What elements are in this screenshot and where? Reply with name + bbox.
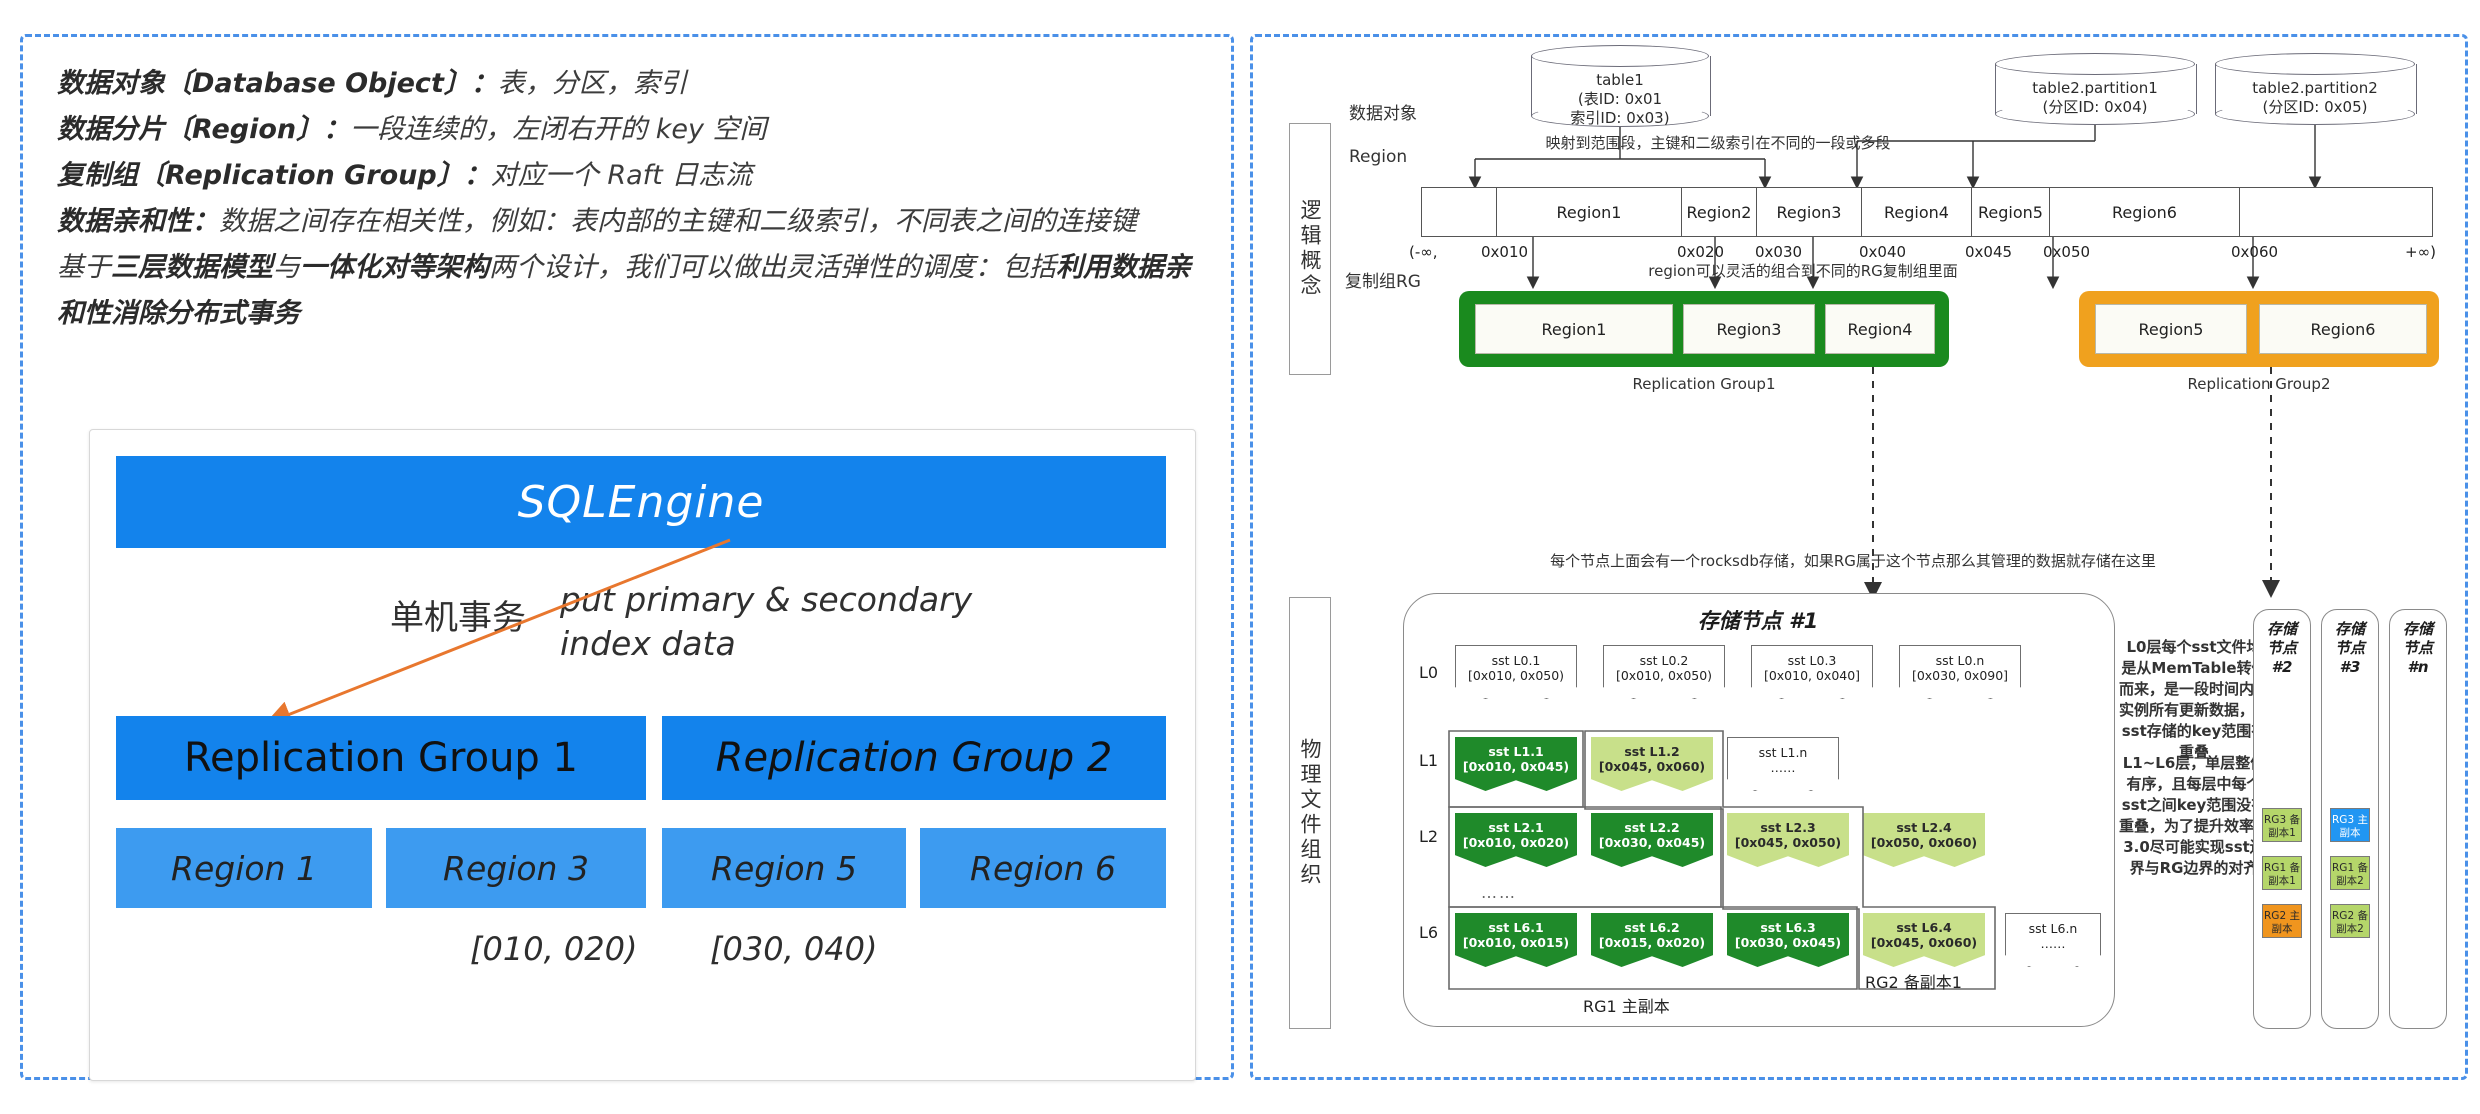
cylinder-table1-line3: 索引ID: 0x03) (1531, 109, 1709, 128)
sst-l1-1-range: [0x010, 0x045) (1455, 759, 1577, 774)
definition-line-4: 数据亲和性：数据之间存在相关性，例如：表内部的主键和二级索引，不同表之间的连接键 (57, 199, 1197, 245)
region-5-label: Region 5 (711, 849, 857, 888)
sst-l6-2-name: sst L6.2 (1591, 920, 1713, 935)
cylinder-p1-name: table2.partition1 (1995, 79, 2195, 98)
storage-node-n-title: 存储节点#n (2390, 620, 2446, 677)
definition-text-block: 数据对象〔Database Object〕：表，分区，索引 数据分片〔Regio… (57, 61, 1197, 337)
band-logical-label: 逻辑概念 (1295, 199, 1325, 299)
region-key-space-strip: Region1 Region2 Region3 Region4 Region5 … (1421, 187, 2433, 237)
cylinder-table1: table1 (表ID: 0x01 索引ID: 0x03) (1531, 45, 1709, 127)
level-ellipsis: …… (1481, 883, 1517, 902)
sql-engine-block: SQLEngine (116, 456, 1166, 548)
definition-line-1: 数据对象〔Database Object〕：表，分区，索引 (57, 61, 1197, 107)
conclusion-p3: 两个设计，我们可以做出灵活弹性的调度：包括 (489, 252, 1056, 283)
node3-chip-rg1-backup2[interactable]: RG1 备副本2 (2330, 856, 2370, 890)
region-6-label: Region 6 (970, 849, 1116, 888)
replication-group-1-container[interactable]: Region1 Region3 Region4 (1459, 291, 1949, 367)
conclusion-b2: 一体化对等架构 (300, 252, 489, 283)
level-label-l6: L6 (1419, 923, 1438, 942)
left-panel: 数据对象〔Database Object〕：表，分区，索引 数据分片〔Regio… (20, 34, 1234, 1080)
storage-node-note: 每个节点上面会有一个rocksdb存储，如果RG属于这个节点那么其管理的数据就存… (1403, 551, 2303, 572)
sst-l0-2-range: [0x010, 0x050) (1604, 668, 1724, 683)
conclusion-b1: 三层数据模型 (111, 252, 273, 283)
sst-l0-2-name: sst L0.2 (1604, 653, 1724, 668)
cylinder-table1-name: table1 (1531, 71, 1709, 90)
definition-line-2: 数据分片〔Region〕：一段连续的，左闭右开的 key 空间 (57, 107, 1197, 153)
key-range-a-label: [010, 020) (470, 930, 637, 968)
node2-chip-rg2-primary[interactable]: RG2 主副本 (2262, 904, 2302, 938)
put-index-note-line2: index data (560, 622, 972, 666)
region-1-box[interactable]: Region 1 (116, 828, 372, 908)
rg-composition-note: region可以灵活的组合到不同的RG复制组里面 (1483, 261, 2123, 282)
region-cell-region4[interactable]: Region4 (1862, 188, 1972, 236)
storage-node-n-column[interactable]: 存储节点#n (2389, 609, 2447, 1029)
definition-3-desc: 对应一个 Raft 日志流 (491, 160, 753, 191)
sst-l6-2-range: [0x015, 0x020) (1591, 935, 1713, 950)
sst-l1-1-name: sst L1.1 (1455, 744, 1577, 759)
sst-l6-4-name: sst L6.4 (1863, 920, 1985, 935)
storage-node-3-title: 存储节点#3 (2322, 620, 2378, 677)
rg2-backup-replica-label: RG2 备副本1 (1865, 969, 1962, 993)
region-cell-7[interactable] (2240, 188, 2432, 236)
replication-group-2-label: Replication Group 2 (716, 735, 1113, 781)
region-3-box[interactable]: Region 3 (386, 828, 646, 908)
sst-l0-3-name: sst L0.3 (1752, 653, 1872, 668)
key-tick-0x050: 0x050 (2043, 243, 2090, 261)
sst-l6-n-range: …… (2006, 936, 2100, 951)
l1-l6-side-note: L1~L6层，单层整体有序，且每层中每个sst之间key范围没有重叠，为了提升效… (2119, 753, 2269, 879)
sst-l2-1-name: sst L2.1 (1455, 820, 1577, 835)
sst-l1-n-name: sst L1.n (1728, 745, 1838, 760)
sst-l2-3-name: sst L2.3 (1727, 820, 1849, 835)
replication-group-2-box[interactable]: Replication Group 2 (662, 716, 1166, 800)
region-3-label: Region 3 (443, 849, 589, 888)
sst-l6-n-name: sst L6.n (2006, 921, 2100, 936)
region-cell-region3[interactable]: Region3 (1757, 188, 1862, 236)
key-tick-0x030: 0x030 (1755, 243, 1802, 261)
definition-3-term: 复制组〔Replication Group〕： (57, 160, 491, 191)
architecture-card: SQLEngine 单机事务 put primary & secondary i… (89, 429, 1196, 1081)
region-cell-region5[interactable]: Region5 (1972, 188, 2050, 236)
sst-l2-3-range: [0x045, 0x050) (1727, 835, 1849, 850)
level-label-l2: L2 (1419, 827, 1438, 846)
sst-l2-1-range: [0x010, 0x020) (1455, 835, 1577, 850)
replication-group-2-caption: Replication Group2 (2079, 375, 2439, 393)
definition-4-desc: 数据之间存在相关性，例如：表内部的主键和二级索引，不同表之间的连接键 (219, 206, 1137, 237)
cylinder-p2-name: table2.partition2 (2215, 79, 2415, 98)
sst-l1-n-range: …… (1728, 760, 1838, 775)
cylinder-p2-top (2215, 53, 2415, 75)
sst-l6-4-range: [0x045, 0x060) (1863, 935, 1985, 950)
put-index-note: put primary & secondary index data (560, 578, 972, 666)
cylinder-p1-top (1995, 53, 2195, 75)
level-label-l0: L0 (1419, 663, 1438, 682)
sst-l0-1-name: sst L0.1 (1456, 653, 1576, 668)
key-tick-0x010: 0x010 (1481, 243, 1528, 261)
definition-line-3: 复制组〔Replication Group〕：对应一个 Raft 日志流 (57, 153, 1197, 199)
cylinder-table2-partition1: table2.partition1 (分区ID: 0x04) (1995, 53, 2195, 125)
sst-l0-n-range: [0x030, 0x090] (1900, 668, 2020, 683)
region-1-label: Region 1 (171, 849, 317, 888)
sst-l2-2-range: [0x030, 0x045) (1591, 835, 1713, 850)
band-logical-concept: 逻辑概念 (1289, 123, 1331, 375)
cylinder-p1-text: table2.partition1 (分区ID: 0x04) (1995, 79, 2195, 117)
right-panel: 逻辑概念 物理文件组织 数据对象 Region 复制组RG table1 (表I… (1250, 34, 2468, 1080)
key-tick-neg-inf: (-∞, (1409, 243, 1438, 261)
conclusion-p1: 基于 (57, 252, 111, 283)
rg1-slot-region1[interactable]: Region1 (1475, 304, 1673, 354)
replication-group-1-label: Replication Group 1 (184, 735, 578, 781)
cylinder-table1-text: table1 (表ID: 0x01 索引ID: 0x03) (1531, 71, 1709, 128)
sql-engine-label: SQLEngine (518, 477, 765, 528)
cylinder-p1-line2: (分区ID: 0x04) (1995, 98, 2195, 117)
replication-group-2-container[interactable]: Region5 Region6 (2079, 291, 2439, 367)
region-cell-region2[interactable]: Region2 (1682, 188, 1757, 236)
put-index-note-line1: put primary & secondary (560, 578, 972, 622)
l0-side-note: L0层每个sst文件均是从MemTable转储而来，是一段时间内该实例所有更新数… (2119, 637, 2269, 763)
conclusion-p2: 与 (273, 252, 300, 283)
key-tick-0x045: 0x045 (1965, 243, 2012, 261)
band-physical-organization: 物理文件组织 (1289, 597, 1331, 1029)
node2-chip-rg1-backup1[interactable]: RG1 备副本1 (2262, 856, 2302, 890)
local-transaction-label: 单机事务 (390, 590, 526, 639)
sst-l2-2-name: sst L2.2 (1591, 820, 1713, 835)
key-tick-0x060: 0x060 (2231, 243, 2278, 261)
row-label-data-object: 数据对象 (1349, 99, 1417, 124)
definition-2-desc: 一段连续的，左闭右开的 key 空间 (350, 114, 766, 145)
cylinder-table1-line2: (表ID: 0x01 (1531, 90, 1709, 109)
slide-root: 数据对象〔Database Object〕：表，分区，索引 数据分片〔Regio… (0, 0, 2480, 1114)
sst-l6-1-name: sst L6.1 (1455, 920, 1577, 935)
cylinder-p2-line2: (分区ID: 0x05) (2215, 98, 2415, 117)
replication-group-1-caption: Replication Group1 (1459, 375, 1949, 393)
replication-group-1-box[interactable]: Replication Group 1 (116, 716, 646, 800)
sst-l0-n-name: sst L0.n (1900, 653, 2020, 668)
sst-l6-1-range: [0x010, 0x015) (1455, 935, 1577, 950)
cylinder-p2-text: table2.partition2 (分区ID: 0x05) (2215, 79, 2415, 117)
storage-node-3-column[interactable]: 存储节点#3 RG3 主副本 RG1 备副本2 RG2 备副本2 (2321, 609, 2379, 1029)
rg2-slot-region6[interactable]: Region6 (2259, 304, 2427, 354)
mapping-note: 映射到范围段，主键和二级索引在不同的一段或多段 (1483, 133, 1953, 154)
rg2-slot-region5[interactable]: Region5 (2095, 304, 2247, 354)
region-5-box[interactable]: Region 5 (662, 828, 906, 908)
row-label-replication-group: 复制组RG (1345, 267, 1421, 292)
node3-chip-rg3-primary[interactable]: RG3 主副本 (2330, 808, 2370, 842)
band-physical-label: 物理文件组织 (1295, 738, 1325, 888)
key-tick-pos-inf: +∞) (2405, 243, 2436, 261)
sst-l6-3-range: [0x030, 0x045) (1727, 935, 1849, 950)
key-range-b-label: [030, 040) (710, 930, 877, 968)
rg1-primary-replica-label: RG1 主副本 (1583, 993, 1670, 1017)
row-label-region: Region (1349, 147, 1407, 167)
storage-node-1-title: 存储节点 #1 (1403, 605, 2113, 635)
rg1-slot-region4[interactable]: Region4 (1825, 304, 1935, 354)
sst-l6-3-name: sst L6.3 (1727, 920, 1849, 935)
definition-4-term: 数据亲和性： (57, 206, 219, 237)
key-tick-0x020: 0x020 (1677, 243, 1724, 261)
region-cell-0[interactable] (1422, 188, 1497, 236)
region-cell-region6[interactable]: Region6 (2050, 188, 2240, 236)
region-6-box[interactable]: Region 6 (920, 828, 1166, 908)
rg1-slot-region3[interactable]: Region3 (1683, 304, 1815, 354)
sst-l0-3-range: [0x010, 0x040] (1752, 668, 1872, 683)
node3-chip-rg2-backup2[interactable]: RG2 备副本2 (2330, 904, 2370, 938)
cylinder-table2-partition2: table2.partition2 (分区ID: 0x05) (2215, 53, 2415, 125)
conclusion-line: 基于三层数据模型与一体化对等架构两个设计，我们可以做出灵活弹性的调度：包括利用数… (57, 245, 1197, 337)
node2-chip-rg3-backup1[interactable]: RG3 备副本1 (2262, 808, 2302, 842)
definition-1-term: 数据对象〔Database Object〕： (57, 68, 498, 99)
key-tick-0x040: 0x040 (1859, 243, 1906, 261)
storage-node-2-column[interactable]: 存储节点#2 RG3 备副本1 RG1 备副本1 RG2 主副本 (2253, 609, 2311, 1029)
sst-l1-2-range: [0x045, 0x060) (1591, 759, 1713, 774)
definition-1-desc: 表，分区，索引 (498, 68, 687, 99)
sst-l2-4-name: sst L2.4 (1863, 820, 1985, 835)
sst-l2-4-range: [0x050, 0x060) (1863, 835, 1985, 850)
region-cell-region1[interactable]: Region1 (1497, 188, 1682, 236)
level-label-l1: L1 (1419, 751, 1438, 770)
cylinder-table1-top (1531, 45, 1709, 67)
storage-node-2-title: 存储节点#2 (2254, 620, 2310, 677)
sst-l1-2-name: sst L1.2 (1591, 744, 1713, 759)
sst-l0-1-range: [0x010, 0x050) (1456, 668, 1576, 683)
definition-2-term: 数据分片〔Region〕： (57, 114, 350, 145)
